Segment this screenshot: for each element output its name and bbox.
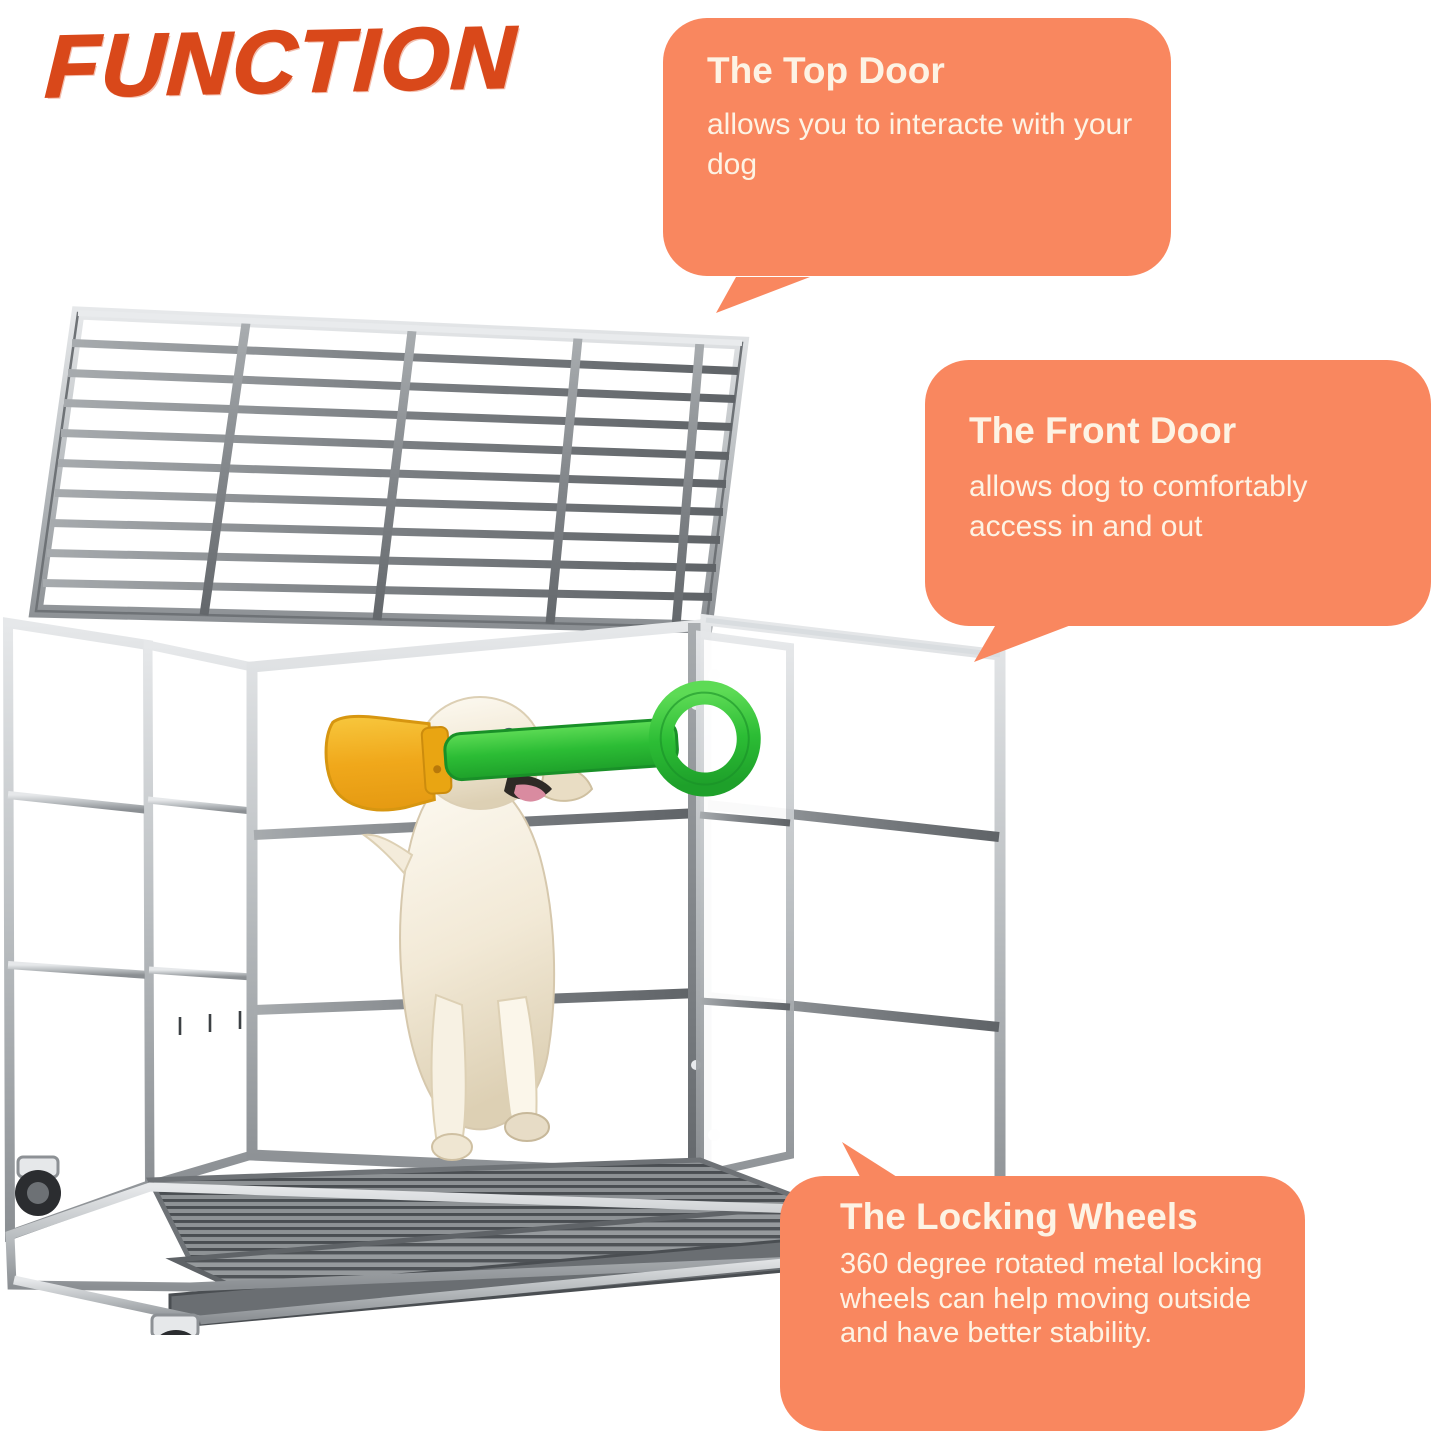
caster-wheel-front-left xyxy=(149,1315,203,1335)
callout-locking-wheels-heading: The Locking Wheels xyxy=(840,1198,1283,1237)
callout-locking-wheels[interactable]: The Locking Wheels 360 degree rotated me… xyxy=(780,1176,1305,1431)
callout-top-door[interactable]: The Top Door allows you to interacte wit… xyxy=(663,18,1171,276)
callout-locking-wheels-body: 360 degree rotated metal locking wheels … xyxy=(840,1247,1280,1351)
infographic-canvas: FUNCTION xyxy=(0,0,1445,1445)
callout-front-door-body: allows dog to comfortably access in and … xyxy=(969,467,1407,547)
callout-front-door[interactable]: The Front Door allows dog to comfortably… xyxy=(925,360,1431,626)
page-title: FUNCTION xyxy=(44,13,520,111)
top-door-panel xyxy=(36,313,742,627)
inner-left-wall xyxy=(148,645,252,1185)
left-side-panel xyxy=(8,623,150,1235)
callout-front-door-heading: The Front Door xyxy=(969,412,1407,451)
callout-top-door-heading: The Top Door xyxy=(707,52,1141,91)
callout-top-door-body: allows you to interacte with your dog xyxy=(707,105,1141,185)
caster-wheel-rear-left xyxy=(15,1157,61,1216)
